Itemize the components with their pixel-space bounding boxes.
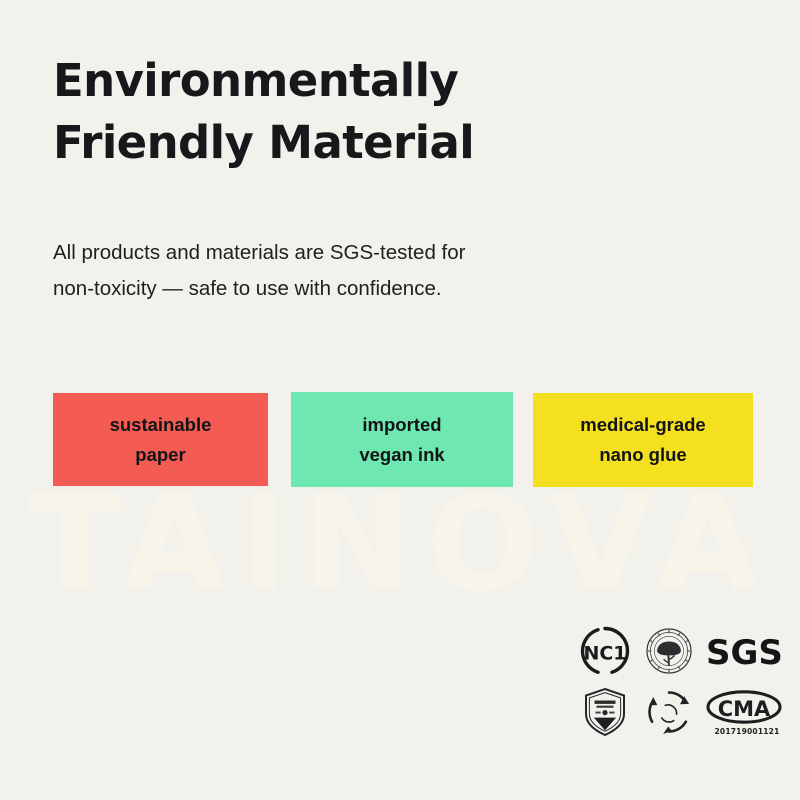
material-chip-line-1: imported: [362, 410, 441, 440]
description-text: All products and materials are SGS-teste…: [53, 235, 673, 307]
material-chip-line-2: nano glue: [599, 440, 686, 470]
nc1-certification-icon: NC1: [576, 622, 634, 680]
svg-text:NC1: NC1: [583, 643, 626, 665]
brand-watermark: TAINOVA: [0, 478, 800, 610]
material-chip-medical-grade-nano-glue: medical-grade nano glue: [533, 393, 753, 487]
description-line-1: All products and materials are SGS-teste…: [53, 235, 673, 271]
certification-badge-row-bottom: CMA 201719001121: [576, 683, 800, 741]
page-title: Environmentally Friendly Material: [53, 50, 693, 174]
certification-badge-group: NC1: [576, 622, 800, 741]
material-chip-line-2: vegan ink: [359, 440, 444, 470]
material-chip-imported-vegan-ink: imported vegan ink: [291, 392, 513, 487]
material-chip-line-1: sustainable: [110, 410, 212, 440]
recycling-icon: [640, 683, 698, 741]
material-chip-line-2: paper: [135, 440, 185, 470]
material-chip-sustainable-paper: sustainable paper: [53, 393, 268, 486]
shield-certification-icon: [576, 683, 634, 741]
cma-text: CMA: [718, 697, 771, 721]
forest-seal-icon: [640, 622, 698, 680]
certification-badge-row-top: NC1: [576, 622, 800, 680]
material-chip-list: sustainable paper imported vegan ink med…: [53, 392, 753, 488]
sgs-text: SGS: [706, 633, 783, 673]
page-title-line-1: Environmentally: [53, 50, 693, 112]
description-line-2: non-toxicity — safe to use with confiden…: [53, 271, 673, 307]
material-chip-line-1: medical-grade: [580, 410, 705, 440]
cma-certificate-number: 201719001121: [714, 727, 779, 736]
sgs-certification-logo: SGS: [704, 622, 790, 680]
page-title-line-2: Friendly Material: [53, 112, 693, 174]
cma-certification-logo: CMA 201719001121: [704, 683, 790, 741]
promo-card: TAINOVA Environmentally Friendly Materia…: [0, 0, 800, 800]
